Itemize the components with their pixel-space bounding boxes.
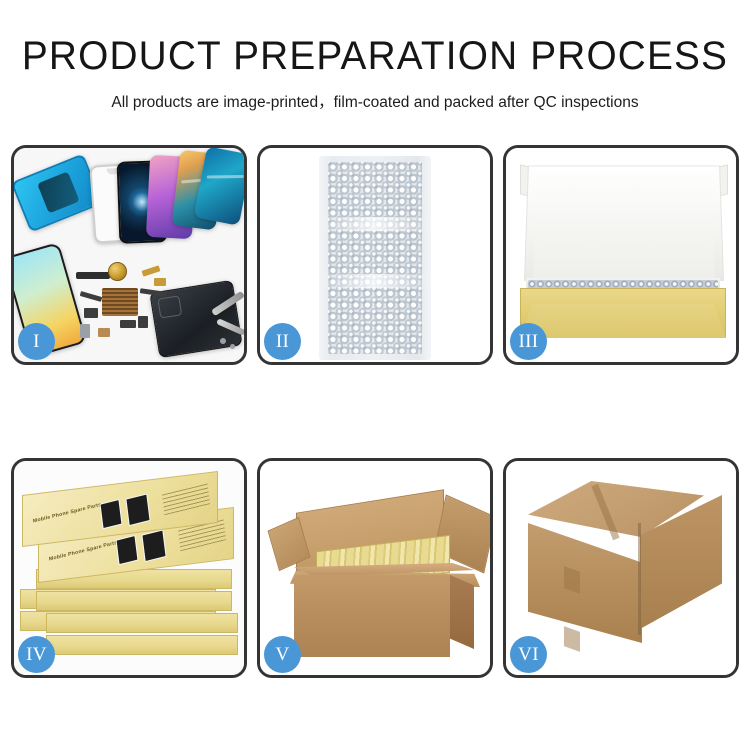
process-step-card-4: Mobile Phone Spare Parts Mobile Phone Sp…: [11, 458, 247, 678]
process-step-card-5: V: [257, 458, 493, 678]
box-art-phone-1b: [125, 493, 150, 526]
step-badge-1: I: [18, 323, 55, 360]
product-preparation-process-page: PRODUCT PREPARATION PROCESS All products…: [0, 0, 750, 750]
header: PRODUCT PREPARATION PROCESS All products…: [0, 0, 750, 111]
page-title: PRODUCT PREPARATION PROCESS: [11, 36, 739, 76]
gold-connector-part: [142, 265, 161, 276]
pouch-sheen-bottom: [319, 274, 431, 288]
box-label-1: Mobile Phone Spare Parts: [33, 502, 102, 525]
gold-connector-part-2: [154, 278, 166, 286]
step-badge-4: IV: [18, 636, 55, 673]
step-badge-2: II: [264, 323, 301, 360]
battery-connector-part: [98, 328, 110, 337]
phone-screen-flex-blue: [14, 153, 103, 232]
page-subtitle: All products are image-printed，film-coat…: [0, 95, 750, 111]
process-step-card-6: VI: [503, 458, 739, 678]
box-label-2: Mobile Phone Spare Parts: [49, 540, 118, 563]
screw-part-2: [230, 344, 235, 349]
carton-side-panel: [450, 575, 474, 649]
sealed-carton-left-face: [528, 523, 642, 643]
box-art-phone-2a: [115, 535, 138, 565]
sealed-carton-vertical-edge: [638, 523, 641, 635]
bubble-wrap-pouch: [319, 156, 431, 360]
bubble-pattern-layer-2: [328, 162, 422, 354]
sim-tray-part: [80, 324, 90, 338]
flex-cable-board-part: [102, 288, 138, 316]
carton-body: [294, 575, 450, 657]
stacked-box-7: [46, 613, 238, 633]
stacked-box-8: [46, 635, 238, 655]
sealed-carton-tape-lower: [564, 626, 580, 652]
pouch-sheen-top: [319, 217, 431, 231]
process-steps-grid: I II: [11, 145, 739, 678]
stacked-box-3b: [36, 591, 232, 611]
mailer-tray-front: [520, 304, 726, 338]
box-art-phone-1a: [99, 499, 122, 529]
box-spec-lines-1: [162, 483, 210, 516]
process-step-card-2: II: [257, 145, 493, 365]
earpiece-speaker-part: [76, 272, 110, 279]
step-badge-5: V: [264, 636, 301, 673]
vibration-motor-part: [108, 262, 127, 281]
box-art-phone-2b: [141, 529, 166, 562]
step-badge-3: III: [510, 323, 547, 360]
small-flex-part-1: [80, 291, 103, 302]
camera-module-part: [120, 320, 136, 328]
mailer-white-lid: [524, 165, 724, 280]
screw-part-1: [220, 338, 226, 344]
button-part: [138, 316, 148, 328]
process-step-card-1: I: [11, 145, 247, 365]
small-flex-part-2: [84, 308, 98, 318]
step-badge-6: VI: [510, 636, 547, 673]
process-step-card-3: III: [503, 145, 739, 365]
